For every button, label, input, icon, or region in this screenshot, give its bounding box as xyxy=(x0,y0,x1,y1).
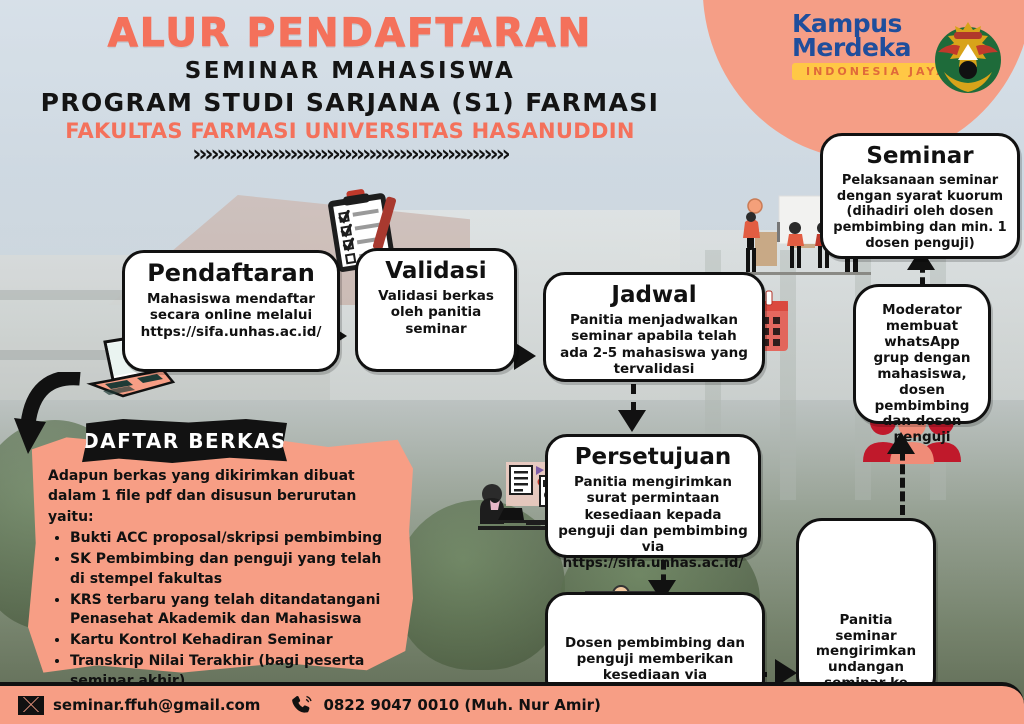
step-card-pendaftaran[interactable]: Pendaftaran Mahasiswa mendaftar secara o… xyxy=(122,250,340,372)
step-body-pendaftaran: Mahasiswa mendaftar secara online melalu… xyxy=(135,291,327,340)
daftar-berkas-intro: Adapun berkas yang dikirimkan dibuat dal… xyxy=(48,466,400,527)
daftar-berkas-title-banner: DAFTAR BERKAS xyxy=(82,419,287,463)
step-title-seminar: Seminar xyxy=(833,144,1007,168)
daftar-berkas-content: Adapun berkas yang dikirimkan dibuat dal… xyxy=(48,466,400,692)
step-card-undangan[interactable]: Panitia seminar mengirimkan undangan sem… xyxy=(796,518,936,702)
page-title: ALUR PENDAFTARAN xyxy=(0,14,700,53)
step-title-jadwal: Jadwal xyxy=(556,283,752,307)
step-body-seminar: Pelaksanaan seminar dengan syarat kuorum… xyxy=(833,173,1007,251)
step-body-jadwal: Panitia menjadwalkan seminar apabila tel… xyxy=(556,312,752,377)
contact-email-group[interactable]: seminar.ffuh@gmail.com xyxy=(18,696,260,715)
step-card-seminar[interactable]: Seminar Pelaksanaan seminar dengan syara… xyxy=(820,133,1020,259)
step-title-validasi: Validasi xyxy=(368,259,504,283)
step-body-moderator: Moderator membuat whatsApp grup dengan m… xyxy=(866,303,978,446)
list-item: Bukti ACC proposal/skripsi pembimbing xyxy=(70,529,400,549)
list-item: Kartu Kontrol Kehadiran Seminar xyxy=(70,631,400,651)
step-title-pendaftaran: Pendaftaran xyxy=(135,261,327,286)
step-card-jadwal[interactable]: Jadwal Panitia menjadwalkan seminar apab… xyxy=(543,272,765,382)
contact-phone-group[interactable]: 0822 9047 0010 (Muh. Nur Amir) xyxy=(290,693,600,717)
poster-header: ALUR PENDAFTARAN SEMINAR MAHASISWA PROGR… xyxy=(0,14,700,166)
daftar-berkas-title: DAFTAR BERKAS xyxy=(82,429,287,453)
step-body-validasi: Validasi berkas oleh panitia seminar xyxy=(368,288,504,337)
arrow-right-to-jadwal xyxy=(514,342,536,370)
contact-email: seminar.ffuh@gmail.com xyxy=(53,696,260,714)
arrow-down-to-persetujuan xyxy=(618,410,646,432)
list-item: SK Pembimbing dan penguji yang telah di … xyxy=(70,550,400,590)
phone-icon xyxy=(290,693,314,717)
subtitle-faculty: FAKULTAS FARMASI UNIVERSITAS HASANUDDIN xyxy=(0,121,700,142)
subtitle-program: PROGRAM STUDI SARJANA (S1) FARMASI xyxy=(0,90,700,115)
list-item: KRS terbaru yang telah ditandatangani Pe… xyxy=(70,591,400,631)
step-card-moderator[interactable]: Moderator membuat whatsApp grup dengan m… xyxy=(853,284,991,424)
contact-footer: seminar.ffuh@gmail.com 0822 9047 0010 (M… xyxy=(0,682,1024,724)
step-body-persetujuan: Panitia mengirimkan surat permintaan kes… xyxy=(558,474,748,571)
arrow-connector-jadwal-persetujuan xyxy=(631,384,636,412)
subtitle-seminar: SEMINAR MAHASISWA xyxy=(0,60,700,83)
daftar-berkas-list: Bukti ACC proposal/skripsi pembimbing SK… xyxy=(70,529,400,692)
step-title-persetujuan: Persetujuan xyxy=(558,445,748,469)
garuda-emblem-icon xyxy=(926,14,1010,98)
chevron-divider: ››››››››››››››››››››››››››››››››››››››››… xyxy=(0,144,700,166)
step-card-validasi[interactable]: Validasi Validasi berkas oleh panitia se… xyxy=(355,248,517,372)
kampus-merdeka-logo: Kampus Merdeka INDONESIA JAYA xyxy=(784,8,1014,104)
contact-phone: 0822 9047 0010 (Muh. Nur Amir) xyxy=(323,696,600,714)
step-card-persetujuan[interactable]: Persetujuan Panitia mengirimkan surat pe… xyxy=(545,434,761,558)
mail-icon xyxy=(18,696,44,715)
